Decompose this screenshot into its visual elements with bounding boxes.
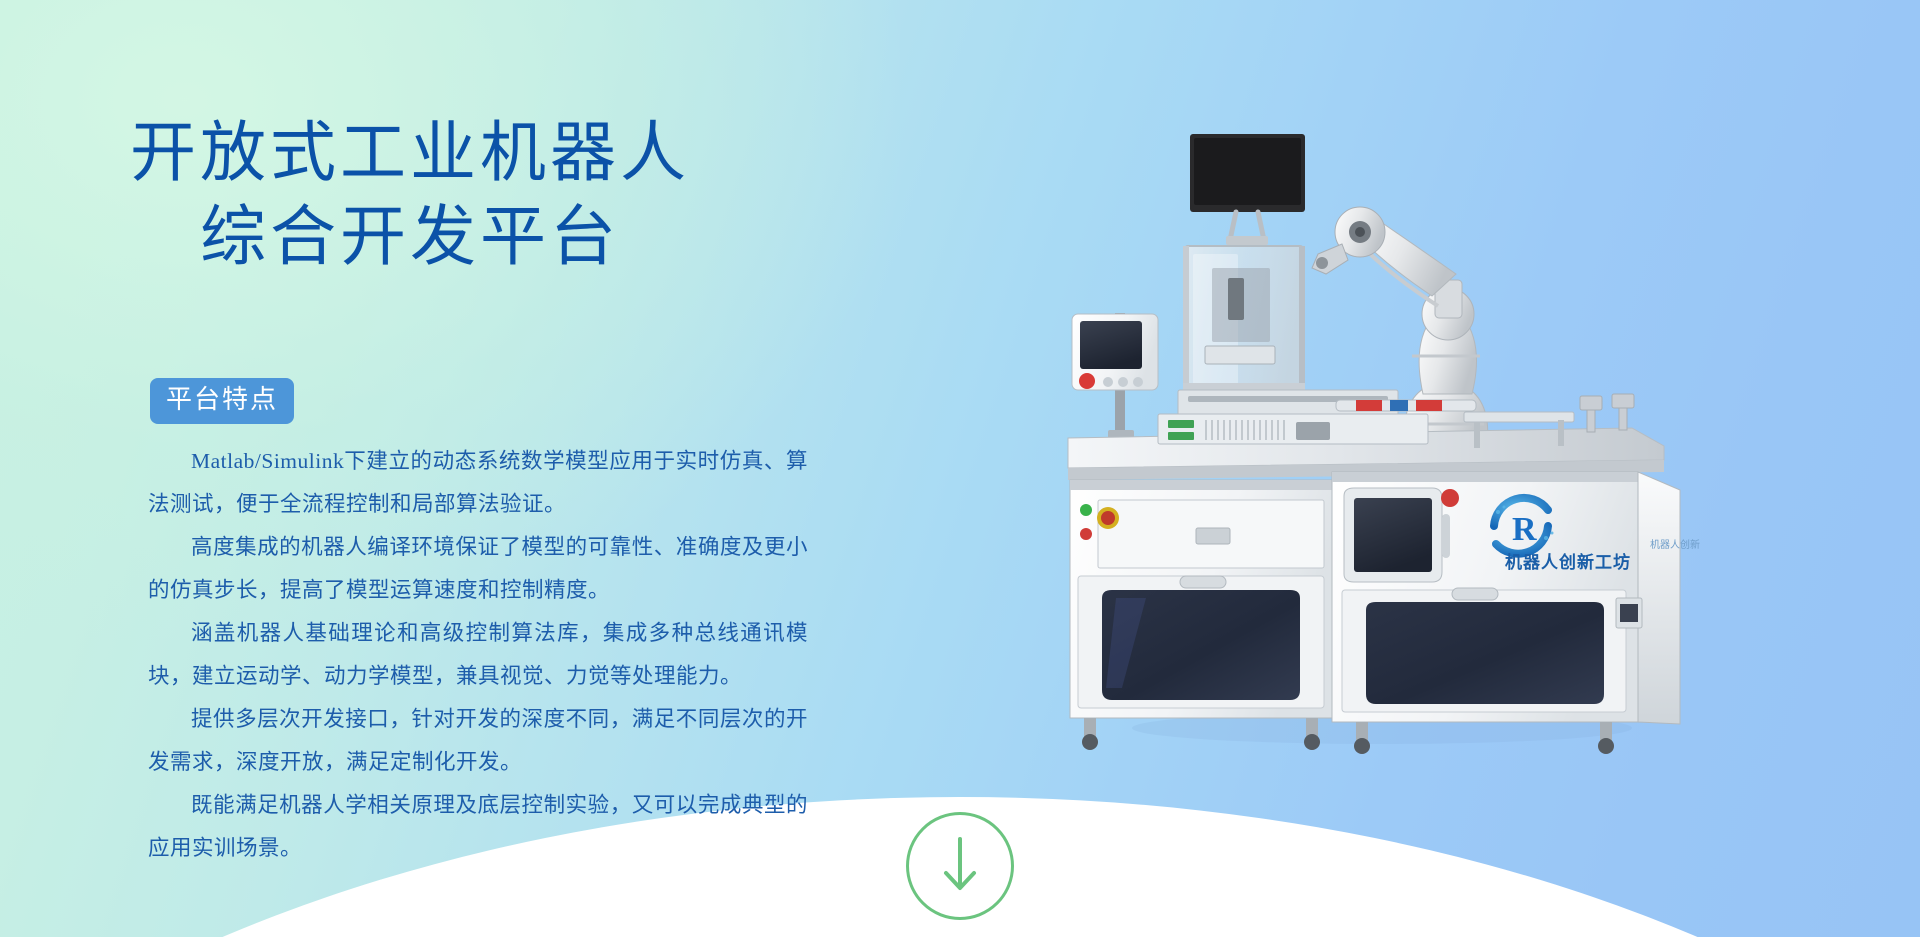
- product-illustration: 开放式工业机器人综合开发平台设备，含六轴机器人、显示器、触摸屏控制面板与工作台: [1060, 128, 1700, 778]
- glass-enclosure: [1183, 246, 1305, 396]
- feature-paragraph: 高度集成的机器人编译环境保证了模型的可靠性、准确度及更小的仿真步长，提高了模型运…: [148, 526, 808, 612]
- side-control-box: [1616, 598, 1642, 628]
- cabinet-side-panel: 机器人创新工坊: [1638, 472, 1700, 724]
- logo-wordmark: 机器人创新工坊: [1505, 552, 1631, 572]
- page-title-line-2: 综合开发平台: [0, 196, 820, 280]
- feature-paragraph: 涵盖机器人基础理论和高级控制算法库，集成多种总线通讯模块，建立运动学、动力学模型…: [148, 612, 808, 698]
- logo-letter: R: [1512, 511, 1537, 548]
- hero-content: 开放式工业机器人 综合开发平台 平台特点 Matlab/Simulink下建立的…: [0, 0, 880, 937]
- marked-shaft: [1336, 400, 1476, 411]
- scroll-down-button[interactable]: arrow-down-icon: [906, 812, 1014, 920]
- cabinet-right: R 机器人创新工坊: [1332, 472, 1638, 754]
- arrow-down-icon: [938, 835, 982, 897]
- page-title-line-1: 开放式工业机器人: [0, 112, 820, 196]
- side-brand-text: 机器人创新工坊: [1650, 538, 1700, 551]
- touch-panel: [1344, 488, 1459, 582]
- overhead-monitor: [1190, 134, 1305, 245]
- hmi-pendant: [1072, 313, 1158, 439]
- feature-paragraph: 提供多层次开发接口，针对开发的深度不同，满足不同层次的开发需求，深度开放，满足定…: [148, 698, 808, 784]
- feature-paragraph: Matlab/Simulink下建立的动态系统数学模型应用于实时仿真、算法测试，…: [148, 440, 808, 526]
- hero-banner: 开放式工业机器人 综合开发平台 平台特点 Matlab/Simulink下建立的…: [0, 0, 1920, 937]
- feature-paragraph: 既能满足机器人学相关原理及底层控制实验，又可以完成典型的应用实训场景。: [148, 784, 808, 870]
- feature-description: Matlab/Simulink下建立的动态系统数学模型应用于实时仿真、算法测试，…: [148, 440, 808, 870]
- feature-section-badge: 平台特点: [150, 378, 294, 424]
- cabinet-left: [1070, 480, 1332, 750]
- page-title: 开放式工业机器人 综合开发平台: [0, 112, 820, 280]
- linear-rail-module: [1158, 390, 1428, 444]
